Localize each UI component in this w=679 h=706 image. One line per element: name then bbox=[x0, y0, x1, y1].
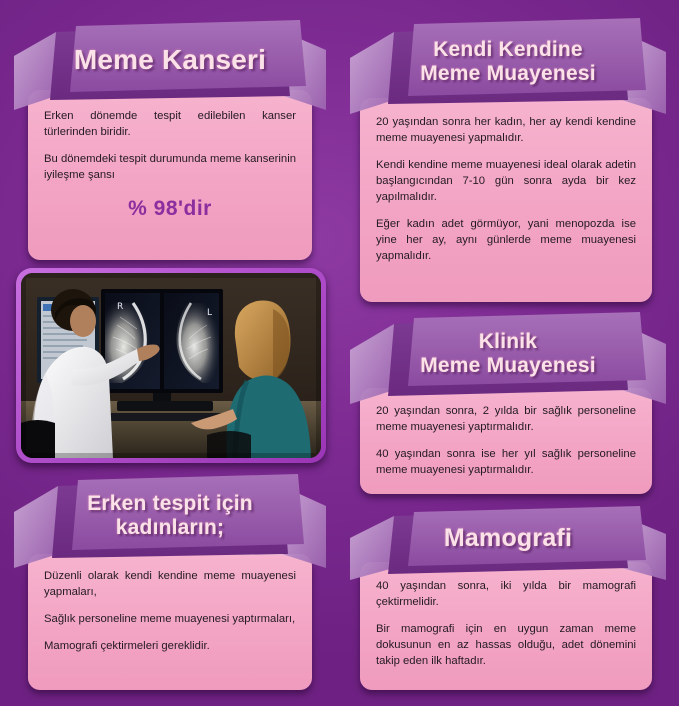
banner-meme-kanseri: Meme Kanseri bbox=[14, 14, 326, 110]
paragraph: Sağlık personeline meme muayenesi yaptır… bbox=[44, 611, 296, 627]
photo-mammography-consult: R L bbox=[21, 273, 321, 458]
card-mamografi: 40 yaşından sonra, iki yılda bir mamogra… bbox=[360, 562, 652, 690]
photo-label-right: R bbox=[117, 302, 123, 312]
paragraph: 40 yaşından sonra ise her yıl sağlık per… bbox=[376, 446, 636, 478]
paragraph: 20 yaşından sonra her kadın, her ay kend… bbox=[376, 114, 636, 146]
paragraph: Mamografi çektirmeleri gereklidir. bbox=[44, 638, 296, 654]
paragraph: Düzenli olarak kendi kendine meme muayen… bbox=[44, 568, 296, 600]
card-body-erken-tespit: Düzenli olarak kendi kendine meme muayen… bbox=[28, 554, 312, 664]
paragraph: Erken dönemde tespit edilebilen kanser t… bbox=[44, 108, 296, 140]
photo-illustration: R L bbox=[21, 273, 321, 458]
banner-shape bbox=[350, 308, 666, 404]
card-body-meme-kanseri: Erken dönemde tespit edilebilen kanser t… bbox=[28, 90, 312, 234]
banner-kendi-kendine: Kendi Kendine Meme Muayenesi bbox=[350, 14, 666, 114]
paragraph: Bir mamografi için en uygun zaman meme d… bbox=[376, 621, 636, 669]
card-body-kendi-kendine: 20 yaşından sonra her kadın, her ay kend… bbox=[360, 98, 652, 274]
paragraph: Bu dönemdeki tespit durumunda meme kanse… bbox=[44, 151, 296, 183]
card-kendi-kendine: 20 yaşından sonra her kadın, her ay kend… bbox=[360, 98, 652, 302]
panel-erken-tespit: Düzenli olarak kendi kendine meme muayen… bbox=[14, 468, 326, 692]
banner-erken-tespit: Erken tespit için kadınların; bbox=[14, 468, 326, 568]
panel-klinik: 20 yaşından sonra, 2 yılda bir sağlık pe… bbox=[350, 308, 666, 500]
infographic-root: Erken dönemde tespit edilebilen kanser t… bbox=[0, 0, 679, 706]
card-erken-tespit: Düzenli olarak kendi kendine meme muayen… bbox=[28, 554, 312, 690]
paragraph: Kendi kendine meme muayenesi ideal olara… bbox=[376, 157, 636, 205]
banner-klinik: Klinik Meme Muayenesi bbox=[350, 308, 666, 404]
banner-mamografi: Mamografi bbox=[350, 504, 666, 580]
paragraph: 20 yaşından sonra, 2 yılda bir sağlık pe… bbox=[376, 403, 636, 435]
panel-meme-kanseri: Erken dönemde tespit edilebilen kanser t… bbox=[14, 14, 326, 260]
paragraph: Eğer kadın adet görmüyor, yani menopozda… bbox=[376, 216, 636, 264]
banner-shape bbox=[350, 504, 666, 580]
card-meme-kanseri: Erken dönemde tespit edilebilen kanser t… bbox=[28, 90, 312, 260]
paragraph: 40 yaşından sonra, iki yılda bir mamogra… bbox=[376, 578, 636, 610]
banner-shape bbox=[14, 468, 326, 568]
panel-mamografi: 40 yaşından sonra, iki yılda bir mamogra… bbox=[350, 504, 666, 694]
panel-kendi-kendine: 20 yaşından sonra her kadın, her ay kend… bbox=[350, 14, 666, 304]
photo-frame: R L bbox=[16, 268, 326, 463]
photo-label-left: L bbox=[207, 308, 212, 318]
highlight-stat: % 98'dir bbox=[44, 194, 296, 224]
banner-shape bbox=[14, 14, 326, 110]
banner-shape bbox=[350, 14, 666, 114]
